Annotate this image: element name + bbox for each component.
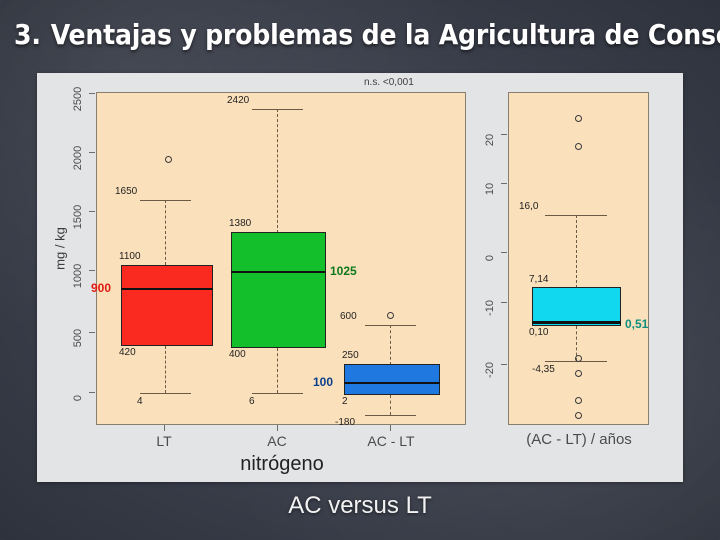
outlier-right-2 xyxy=(575,143,582,150)
outlier-right-1 xyxy=(575,115,582,122)
left-xtickmark-aclt xyxy=(390,425,391,431)
value-whisker-high-aclt: 600 xyxy=(340,311,357,322)
value-q1-right: 0,10 xyxy=(529,327,548,338)
outlier-right-3 xyxy=(575,355,582,362)
outlier-lt-1 xyxy=(165,156,172,163)
left-ytick-0: 0 xyxy=(72,381,84,415)
median-lt xyxy=(121,288,213,290)
right-ytickmark-m20 xyxy=(501,364,507,365)
value-q3-lt: 1100 xyxy=(119,251,141,262)
median-ac xyxy=(231,271,326,273)
value-median-aclt: 100 xyxy=(313,375,333,389)
outlier-right-4 xyxy=(575,370,582,377)
right-ytickmark-20 xyxy=(501,134,507,135)
left-xtickmark-ac xyxy=(277,425,278,431)
figure-card: n.s. <0,001 mg / kg 0 500 1000 1500 2000… xyxy=(37,73,683,482)
left-ytickmark-1500 xyxy=(89,211,95,212)
left-ytick-1000: 1000 xyxy=(72,259,84,293)
left-ytick-2500: 2500 xyxy=(72,82,84,116)
value-q1-ac: 400 xyxy=(229,349,246,360)
whisker-low-lt xyxy=(165,346,166,393)
whisker-cap-low-lt xyxy=(140,393,191,394)
value-whisker-low-lt: 4 xyxy=(137,396,143,407)
box-lt xyxy=(121,265,213,346)
value-whisker-high-ac: 2420 xyxy=(227,95,249,106)
value-q3-right: 7,14 xyxy=(529,274,548,285)
value-q3-aclt: 250 xyxy=(342,350,359,361)
xcat-lt: LT xyxy=(124,433,204,449)
right-ytick-10: 10 xyxy=(484,172,496,206)
whisker-high-right xyxy=(576,215,577,288)
value-whisker-low-right: -4,35 xyxy=(532,364,555,375)
left-ytickmark-2000 xyxy=(89,152,95,153)
boxplot-panel-nitrogeno: 1650 1100 900 420 4 2420 1380 1025 400 6… xyxy=(96,92,466,425)
significance-note: n.s. <0,001 xyxy=(364,77,414,88)
slide-caption: AC versus LT xyxy=(0,492,720,520)
left-ytick-500: 500 xyxy=(72,321,84,355)
boxplot-panel-ac-lt-anos: 16,0 7,14 0,51 0,10 -4,35 xyxy=(508,92,649,425)
whisker-cap-low-aclt xyxy=(365,415,416,416)
value-median-lt: 900 xyxy=(91,281,111,295)
right-x-axis-title: (AC - LT) / años xyxy=(489,431,669,448)
right-ytickmark-10 xyxy=(501,183,507,184)
whisker-high-lt xyxy=(165,200,166,265)
whisker-low-aclt xyxy=(390,395,391,415)
value-whisker-high-lt: 1650 xyxy=(115,186,137,197)
left-ytickmark-500 xyxy=(89,332,95,333)
whisker-cap-low-ac xyxy=(252,393,303,394)
title-text: Ventajas y problemas de la Agricultura d… xyxy=(51,18,720,51)
xcat-ac-lt: AC - LT xyxy=(342,433,440,449)
box-aclt xyxy=(344,364,440,395)
xcat-ac: AC xyxy=(237,433,317,449)
whisker-high-ac xyxy=(277,109,278,233)
left-y-axis-title: mg / kg xyxy=(53,214,68,284)
page-title: 3.Ventajas y problemas de la Agricultura… xyxy=(14,18,714,60)
left-ytick-1500: 1500 xyxy=(72,200,84,234)
title-number: 3. xyxy=(14,18,41,51)
right-ytick-m20: -20 xyxy=(484,353,496,387)
right-ytick-0: 0 xyxy=(484,241,496,275)
value-q1-aclt: 2 xyxy=(342,396,348,407)
whisker-high-aclt xyxy=(390,325,391,365)
value-whisker-low-ac: 6 xyxy=(249,396,255,407)
right-ytickmark-0 xyxy=(501,252,507,253)
outlier-right-6 xyxy=(575,412,582,419)
value-q1-lt: 420 xyxy=(119,347,136,358)
right-ytick-m10: -10 xyxy=(484,291,496,325)
left-xtickmark-lt xyxy=(164,425,165,431)
outlier-right-5 xyxy=(575,397,582,404)
left-ytickmark-2500 xyxy=(89,93,95,94)
right-ytick-20: 20 xyxy=(484,123,496,157)
value-median-right: 0,51 xyxy=(625,317,648,331)
box-ac xyxy=(231,232,326,348)
value-whisker-high-right: 16,0 xyxy=(519,201,538,212)
left-ytickmark-0 xyxy=(89,392,95,393)
right-ytickmark-m10 xyxy=(501,302,507,303)
median-right xyxy=(532,321,621,324)
left-ytickmark-1000 xyxy=(89,270,95,271)
outlier-aclt-1 xyxy=(387,312,394,319)
left-x-axis-title: nitrógeno xyxy=(212,453,352,476)
value-whisker-low-aclt: -180 xyxy=(335,417,355,428)
value-median-ac: 1025 xyxy=(330,264,357,278)
whisker-low-ac xyxy=(277,348,278,393)
median-aclt xyxy=(344,382,440,384)
value-q3-ac: 1380 xyxy=(229,218,251,229)
left-ytick-2000: 2000 xyxy=(72,141,84,175)
